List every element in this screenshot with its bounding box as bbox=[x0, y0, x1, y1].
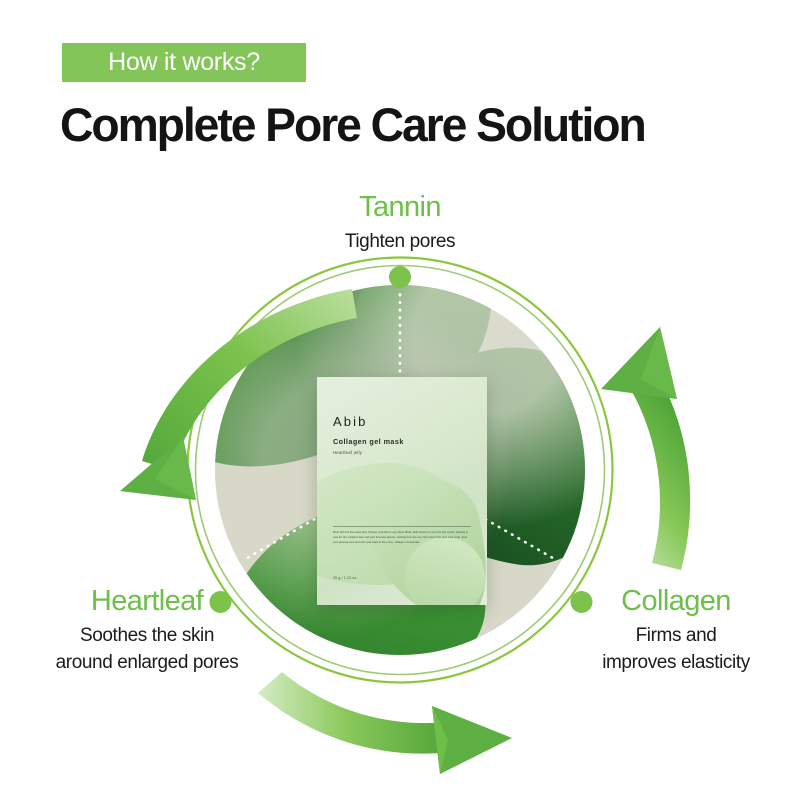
node-desc-heartleaf-line2: around enlarged pores bbox=[22, 650, 272, 677]
node-desc-collagen: Firms and improves elasticity bbox=[570, 623, 782, 677]
node-label-heartleaf: Heartleaf Soothes the skin around enlarg… bbox=[22, 586, 272, 677]
package-volume: 35 g / 1.23 oz. bbox=[333, 576, 358, 580]
arrow-collagen-to-tannin bbox=[601, 327, 690, 570]
pore-care-cycle-diagram: Abib Collagen gel mask Heartleaf jelly M… bbox=[0, 0, 800, 800]
node-desc-collagen-line2: improves elasticity bbox=[570, 650, 782, 677]
node-marker-tannin[interactable] bbox=[389, 266, 411, 288]
node-desc-heartleaf-line1: Soothes the skin bbox=[22, 623, 272, 650]
package-brand: Abib bbox=[333, 415, 473, 428]
node-desc-tannin: Tighten pores bbox=[0, 229, 800, 256]
node-title-heartleaf: Heartleaf bbox=[22, 586, 272, 618]
package-divider-rule bbox=[333, 526, 471, 527]
node-title-tannin: Tannin bbox=[0, 192, 800, 224]
package-description: Meet with the first-class jelly. Pamper … bbox=[333, 531, 473, 545]
node-desc-collagen-line1: Firms and bbox=[570, 623, 782, 650]
node-label-tannin: Tannin Tighten pores bbox=[0, 192, 800, 256]
node-label-collagen: Collagen Firms and improves elasticity bbox=[570, 586, 782, 677]
node-desc-heartleaf: Soothes the skin around enlarged pores bbox=[22, 623, 272, 677]
arrow-heartleaf-to-collagen bbox=[258, 672, 512, 774]
product-package: Abib Collagen gel mask Heartleaf jelly M… bbox=[317, 377, 487, 605]
package-product-name: Collagen gel mask bbox=[333, 438, 473, 445]
package-variant: Heartleaf jelly bbox=[333, 451, 473, 455]
node-title-collagen: Collagen bbox=[570, 586, 782, 618]
package-text-block: Abib Collagen gel mask Heartleaf jelly bbox=[333, 415, 473, 455]
